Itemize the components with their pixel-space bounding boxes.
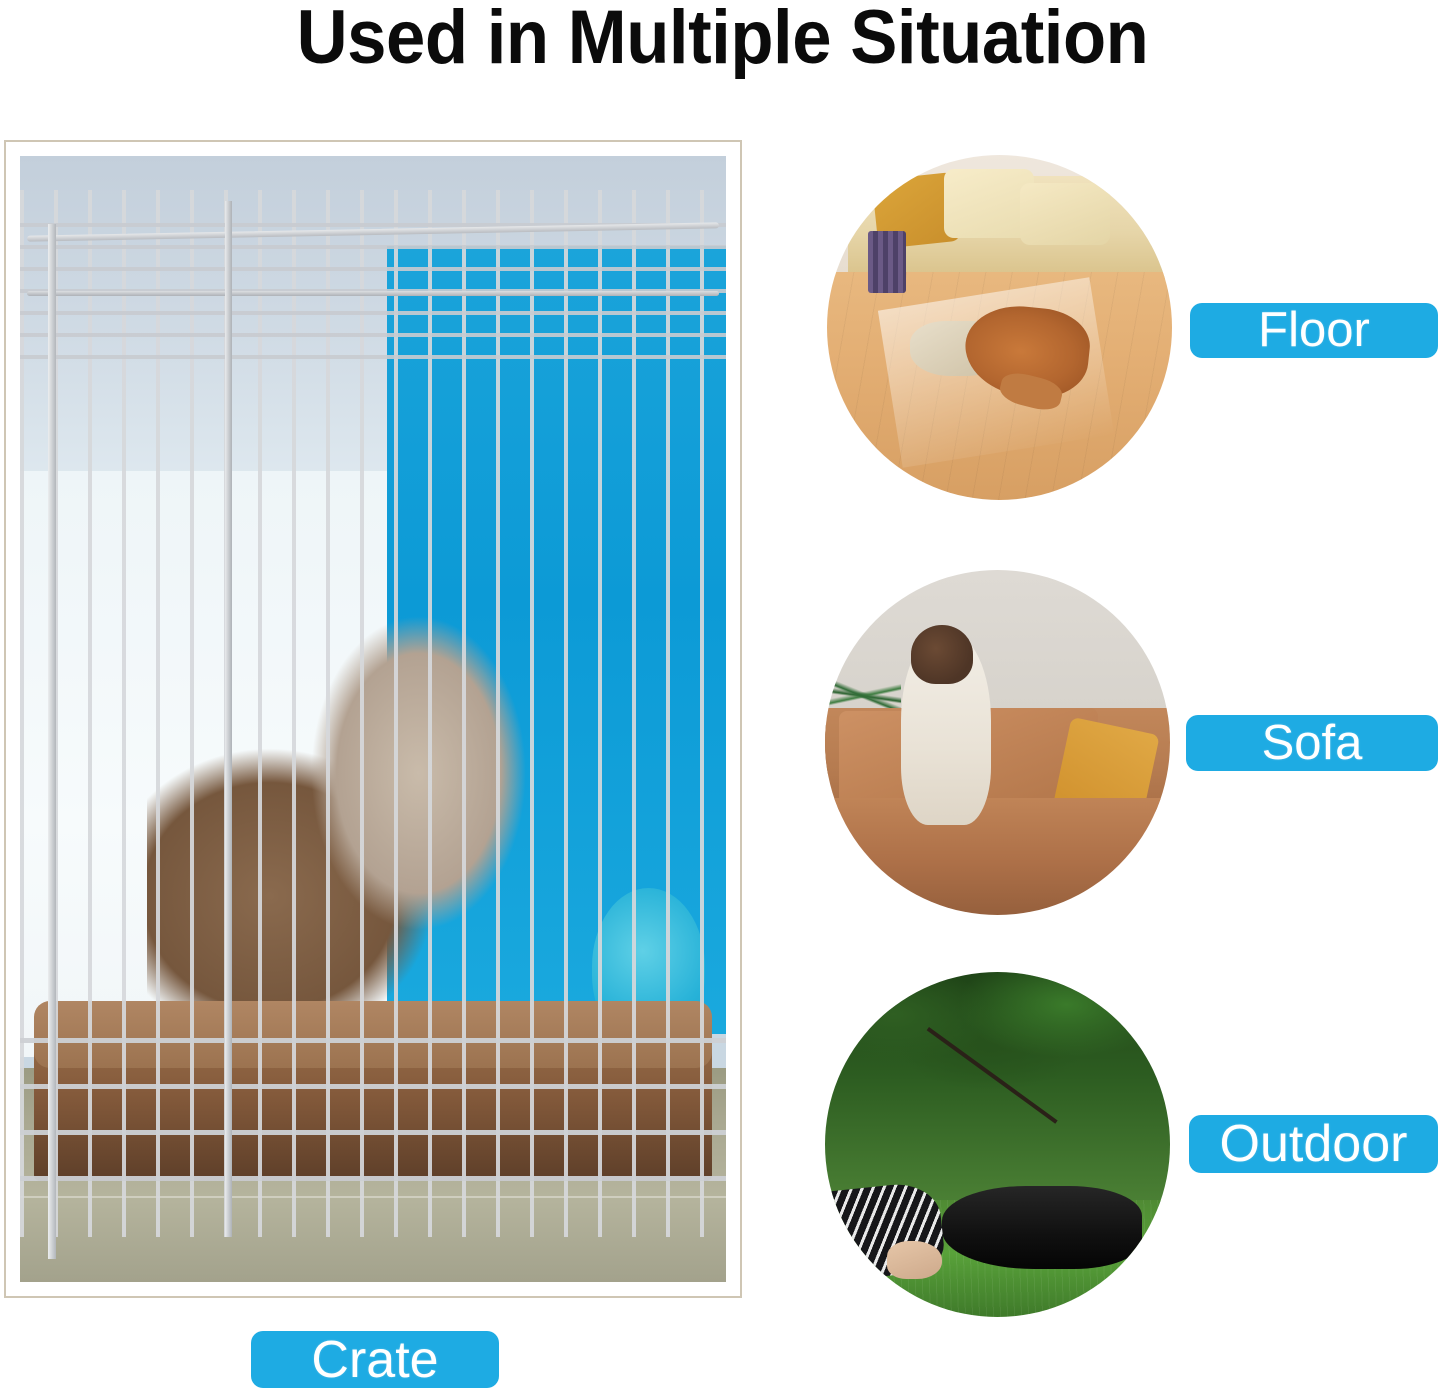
label-sofa: Sofa (1186, 715, 1438, 771)
crate-photo (20, 156, 726, 1282)
situation-photo-outdoor (825, 972, 1170, 1317)
label-floor: Floor (1190, 303, 1438, 358)
sofa-scene-seat (825, 798, 1170, 915)
crate-second-rail (27, 291, 719, 296)
label-crate: Crate (251, 1331, 499, 1388)
label-outdoor: Outdoor (1189, 1115, 1438, 1173)
floor-scene-pillow-3 (1020, 183, 1110, 245)
page-title: Used in Multiple Situation (51, 0, 1395, 78)
sofa-scene-dog-head (911, 625, 973, 684)
floor-scene-side-table (868, 231, 906, 293)
outdoor-scene-dog (942, 1186, 1142, 1269)
crate-photo-frame (4, 140, 742, 1298)
crate-door-post (225, 201, 232, 1237)
crate-bottom-wires (20, 1001, 726, 1181)
crate-left-post (48, 224, 56, 1260)
situation-photo-floor (827, 155, 1172, 500)
situation-photo-sofa (825, 570, 1170, 915)
outdoor-scene-hand (887, 1241, 942, 1279)
outdoor-scene-trees (825, 972, 1170, 1207)
